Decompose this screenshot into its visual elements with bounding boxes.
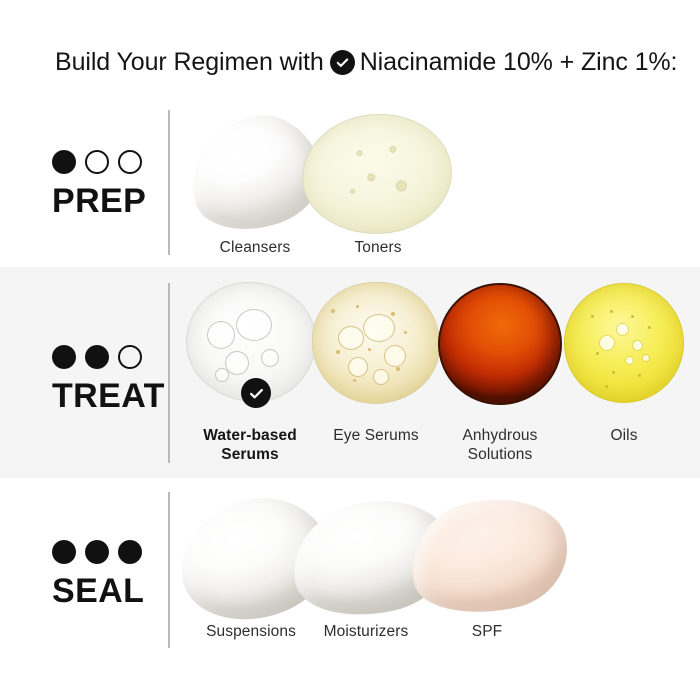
product-list-seal: Suspensions Moisturizers SPF <box>186 496 562 641</box>
product-label-moisturizers: Moisturizers <box>324 622 409 641</box>
product-label-anhydrous-solutions: Anhydrous Solutions <box>462 426 537 465</box>
swatch-oils <box>564 283 684 403</box>
stage-seal-progress-dots <box>52 540 142 564</box>
stage-seal-label: SEAL <box>52 574 144 608</box>
product-label-eye-serums: Eye Serums <box>333 426 418 445</box>
stage-prep: PREP <box>0 96 168 267</box>
page-title-prefix: Build Your Regimen with <box>55 48 324 77</box>
product-label-cleansers: Cleansers <box>220 238 291 257</box>
product-spf[interactable]: SPF <box>412 496 562 641</box>
swatch-spf <box>400 485 578 627</box>
stage-treat: TREAT <box>0 267 168 478</box>
stage-treat-divider <box>168 283 170 463</box>
stage-prep-progress-dots <box>52 150 142 174</box>
progress-dot-filled <box>52 345 76 369</box>
check-circle-icon <box>330 50 355 75</box>
page-title-suffix: Niacinamide 10% + Zinc 1%: <box>360 48 678 77</box>
product-eye-serums[interactable]: Eye Serums <box>312 282 440 445</box>
stage-treat-label: TREAT <box>52 379 165 413</box>
stage-prep-label: PREP <box>52 184 146 218</box>
product-anhydrous-solutions[interactable]: Anhydrous Solutions <box>438 282 562 465</box>
product-label-toners: Toners <box>354 238 401 257</box>
product-list-prep: Cleansers Toners <box>186 112 454 257</box>
regimen-infographic: Build Your Regimen with Niacinamide 10% … <box>0 0 700 700</box>
swatch-toners <box>298 109 456 239</box>
stage-treat-progress-dots <box>52 345 142 369</box>
product-water-based-serums[interactable]: Water-based Serums <box>184 282 316 465</box>
progress-dot-filled <box>52 150 76 174</box>
selected-check-icon <box>241 378 271 408</box>
progress-dot-filled <box>85 345 109 369</box>
progress-dot-filled <box>118 540 142 564</box>
product-list-treat: Water-based Serums <box>184 282 684 465</box>
progress-dot-empty <box>85 150 109 174</box>
progress-dot-filled <box>85 540 109 564</box>
product-label-suspensions: Suspensions <box>206 622 296 641</box>
swatch-eye-serums <box>312 282 440 404</box>
product-oils[interactable]: Oils <box>564 282 684 445</box>
stage-prep-divider <box>168 110 170 255</box>
progress-dot-empty <box>118 345 142 369</box>
stage-seal: SEAL <box>0 478 168 660</box>
product-label-oils: Oils <box>610 426 637 445</box>
product-label-spf: SPF <box>472 622 502 641</box>
product-label-water-based-serums: Water-based Serums <box>203 426 297 465</box>
progress-dot-empty <box>118 150 142 174</box>
swatch-anhydrous-solutions <box>438 283 562 405</box>
page-title: Build Your Regimen with Niacinamide 10% … <box>55 48 677 77</box>
product-toners[interactable]: Toners <box>302 112 454 257</box>
progress-dot-filled <box>52 540 76 564</box>
stage-seal-divider <box>168 492 170 648</box>
